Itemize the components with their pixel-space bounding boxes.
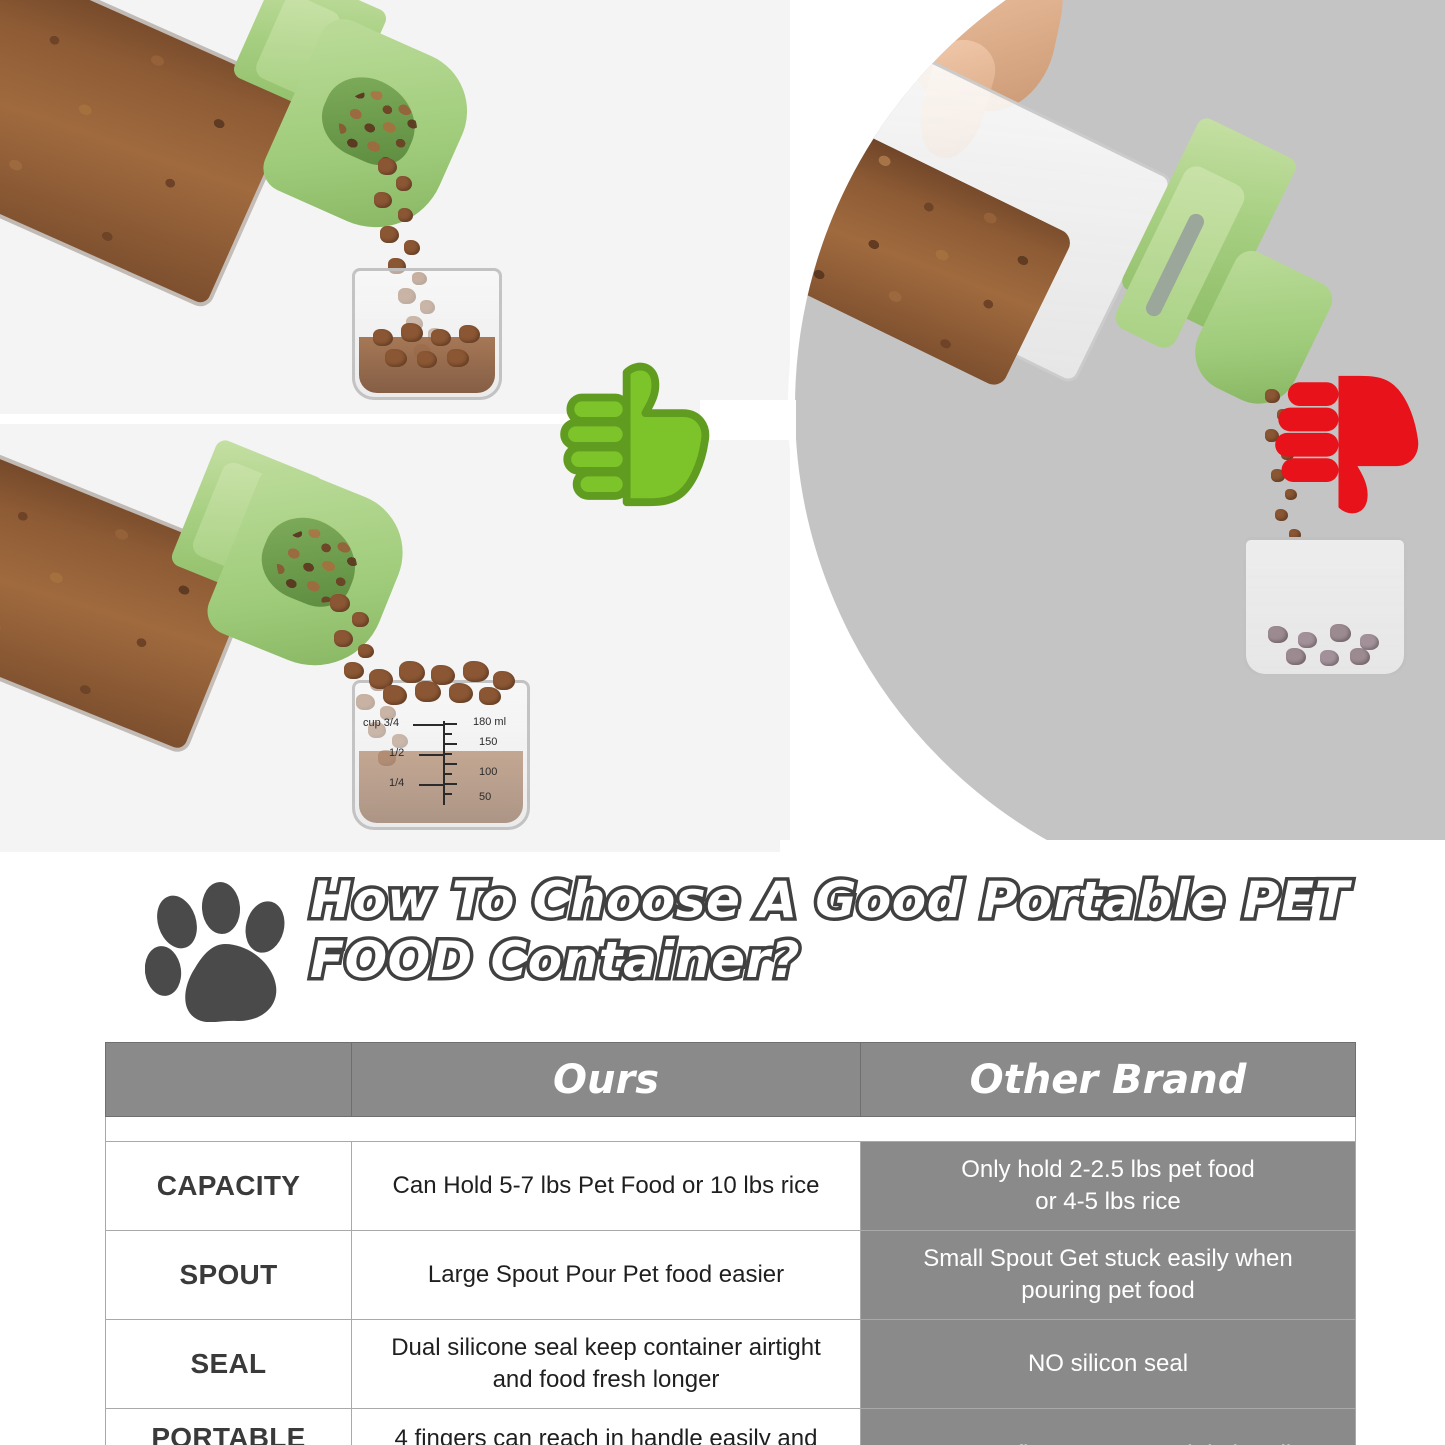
comparison-table: Ours Other Brand CAPACITY Can Hold 5-7 l… <box>105 1042 1356 1445</box>
header-blank <box>106 1043 352 1117</box>
cup-label-left-2: 1/4 <box>389 777 404 789</box>
row-feature-portable-handle: PORTABLEHANDLE <box>106 1409 352 1445</box>
table-row: CAPACITY Can Hold 5-7 lbs Pet Food or 10… <box>106 1142 1356 1231</box>
paw-print-icon <box>145 882 305 1022</box>
other-measuring-cup <box>1243 537 1407 677</box>
montage-bottom-mask <box>780 840 1445 852</box>
cup-label-left-1: 1/2 <box>389 747 404 759</box>
row-other-portable-handle: ONLY2-3 fingers can reach in handle <box>861 1409 1356 1445</box>
row-feature-capacity: CAPACITY <box>106 1142 352 1231</box>
cup-label-right-1: 150 <box>479 736 497 748</box>
cup-label-right-2: 100 <box>479 766 497 778</box>
photo-ours-pour-top <box>0 0 790 414</box>
cup-label-right-0: 180 ml <box>473 716 506 728</box>
row-ours-spout: Large Spout Pour Pet food easier <box>352 1231 861 1320</box>
row-other-capacity: Only hold 2-2.5 lbs pet foodor 4-5 lbs r… <box>861 1142 1356 1231</box>
row-ours-seal: Dual silicone seal keep container airtig… <box>352 1320 861 1409</box>
row-feature-spout: SPOUT <box>106 1231 352 1320</box>
header-ours: Ours <box>352 1043 861 1117</box>
cup-label-left-0: cup 3/4 <box>363 717 399 729</box>
infographic-page: cup 3/4 1/2 1/4 180 ml 150 100 50 <box>0 0 1445 1445</box>
measuring-cup-bottom: cup 3/4 1/2 1/4 180 ml 150 100 50 <box>352 680 530 830</box>
row-other-spout: Small Spout Get stuck easily whenpouring… <box>861 1231 1356 1320</box>
row-ours-capacity: Can Hold 5-7 lbs Pet Food or 10 lbs rice <box>352 1142 861 1231</box>
photo-montage: cup 3/4 1/2 1/4 180 ml 150 100 50 <box>0 0 1445 852</box>
thumbs-up-icon <box>556 360 716 510</box>
comparison-table-wrap: Ours Other Brand CAPACITY Can Hold 5-7 l… <box>105 1042 1355 1445</box>
table-spacer-cell <box>106 1117 1356 1142</box>
row-ours-portable-handle: 4 fingers can reach in handle easily and… <box>352 1409 861 1445</box>
table-row: SPOUT Large Spout Pour Pet food easier S… <box>106 1231 1356 1320</box>
table-spacer-row <box>106 1117 1356 1142</box>
page-title: How To Choose A Good Portable PET FOOD C… <box>310 870 1390 990</box>
cup-scale-labels: cup 3/4 1/2 1/4 180 ml 150 100 50 <box>355 683 527 827</box>
measuring-cup-top <box>352 268 502 400</box>
table-row: SEAL Dual silicone seal keep container a… <box>106 1320 1356 1409</box>
row-other-seal: NO silicon seal <box>861 1320 1356 1409</box>
row-feature-seal: SEAL <box>106 1320 352 1409</box>
title-block: How To Choose A Good Portable PET FOOD C… <box>0 852 1445 1027</box>
table-header-row: Ours Other Brand <box>106 1043 1356 1117</box>
cup-label-right-3: 50 <box>479 791 491 803</box>
thumbs-down-icon <box>1268 368 1428 520</box>
header-other-brand: Other Brand <box>861 1043 1356 1117</box>
table-row: PORTABLEHANDLE 4 fingers can reach in ha… <box>106 1409 1356 1445</box>
